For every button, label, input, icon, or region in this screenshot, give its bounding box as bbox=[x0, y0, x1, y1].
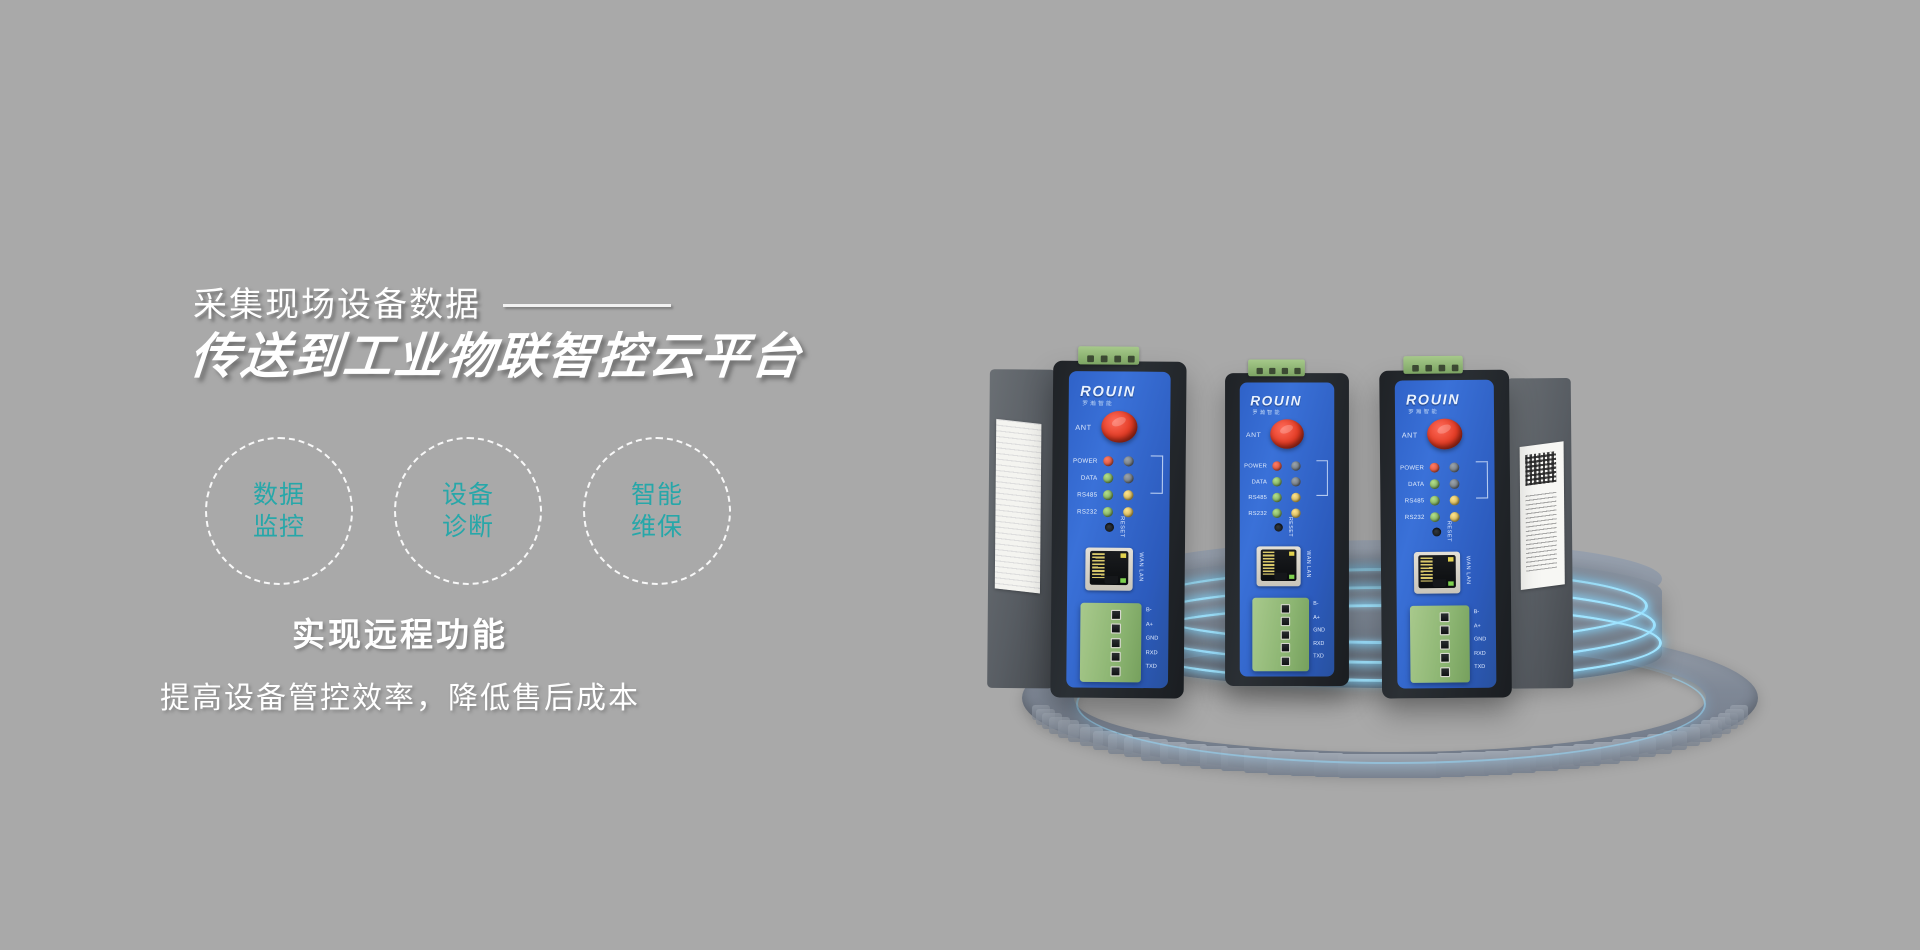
subheading-secondary: 提高设备管控效率，降低售后成本 bbox=[0, 673, 800, 717]
terminal-label-group: B- A+ GND RXD TXD bbox=[1313, 601, 1325, 660]
spec-label-sticker bbox=[995, 419, 1042, 594]
led-status-icon bbox=[1291, 477, 1300, 486]
brand-logo: ROUIN bbox=[1406, 391, 1460, 408]
terminal-label-group: B- A+ GND RXD TXD bbox=[1474, 609, 1487, 671]
led-status-icon bbox=[1449, 462, 1459, 472]
antenna-connector-icon bbox=[1270, 419, 1304, 448]
gear-tooth bbox=[1730, 705, 1748, 720]
led-rs232-icon bbox=[1430, 512, 1440, 522]
rj45-port-icon bbox=[1085, 547, 1133, 590]
brand-logo: ROUIN bbox=[1250, 393, 1302, 409]
led-status-icon bbox=[1123, 473, 1133, 483]
feature-circle-line1: 设备 bbox=[442, 479, 494, 511]
brand-logo: ROUIN bbox=[1080, 382, 1136, 399]
sticker-text-lines bbox=[1526, 491, 1557, 572]
led-rs232-icon bbox=[1272, 509, 1281, 518]
terminal-label: TXD bbox=[1313, 653, 1325, 659]
power-terminal-top bbox=[1403, 356, 1463, 374]
screw-terminal-block bbox=[1252, 598, 1309, 672]
lan-port-label: WAN LAN bbox=[1137, 552, 1144, 582]
feature-circle-line1: 智能 bbox=[631, 479, 683, 511]
status-bracket bbox=[1316, 460, 1328, 496]
led-status-icon bbox=[1449, 479, 1459, 489]
device-left-side-panel bbox=[987, 369, 1055, 688]
page-title: 传送到工业物联智控云平台 bbox=[188, 332, 805, 383]
terminal-label: B- bbox=[1313, 601, 1325, 607]
reset-button[interactable] bbox=[1274, 523, 1282, 531]
antenna-connector-icon bbox=[1101, 411, 1137, 443]
reset-button[interactable] bbox=[1432, 528, 1441, 537]
terminal-label: TXD bbox=[1474, 664, 1486, 671]
terminal-label: GND bbox=[1313, 627, 1325, 633]
led-rs485-icon bbox=[1430, 496, 1440, 506]
status-bracket bbox=[1476, 461, 1488, 499]
led-power-icon bbox=[1430, 463, 1440, 473]
feature-circle-line2: 诊断 bbox=[442, 511, 494, 543]
led-status-icon bbox=[1123, 490, 1133, 500]
brand-logo-cn: 罗瀚智能 bbox=[1408, 408, 1439, 416]
kicker-rule-divider bbox=[503, 304, 671, 307]
led-label: RS485 bbox=[1244, 494, 1267, 500]
led-label: DATA bbox=[1244, 479, 1267, 485]
lan-port-label: WAN LAN bbox=[1305, 551, 1311, 578]
antenna-label: ANT bbox=[1075, 424, 1091, 432]
feature-circle-device-diagnosis[interactable]: 设备 诊断 bbox=[394, 437, 542, 585]
promo-banner: 采集现场设备数据 传送到工业物联智控云平台 数据 监控 设备 诊断 智能 维保 … bbox=[0, 0, 1920, 950]
led-power-icon bbox=[1272, 461, 1281, 470]
led-label: POWER bbox=[1400, 464, 1424, 471]
led-status-icon bbox=[1291, 493, 1300, 502]
antenna-connector-icon bbox=[1427, 418, 1462, 449]
feature-circle-smart-maintenance[interactable]: 智能 维保 bbox=[583, 437, 731, 585]
feature-circle-line1: 数据 bbox=[253, 479, 305, 511]
device-gateway-center: ROUIN 罗瀚智能 ANT POWER DATA bbox=[1225, 373, 1349, 686]
feature-circle-list: 数据 监控 设备 诊断 智能 维保 bbox=[205, 437, 731, 585]
device-front-panel: ROUIN 罗瀚智能 ANT POWER DATA bbox=[1395, 380, 1497, 689]
reset-label: RESET bbox=[1287, 517, 1293, 537]
kicker-row: 采集现场设备数据 bbox=[193, 288, 671, 322]
led-label: DATA bbox=[1073, 474, 1098, 481]
device-front-panel: ROUIN 罗瀚智能 ANT POWER DATA bbox=[1066, 371, 1170, 688]
terminal-label: A+ bbox=[1313, 614, 1325, 620]
terminal-label: GND bbox=[1146, 635, 1159, 642]
device-gateway-left: ROUIN 罗瀚智能 ANT POWER DATA bbox=[1050, 361, 1186, 699]
antenna-label: ANT bbox=[1402, 432, 1418, 440]
terminal-label: B- bbox=[1474, 609, 1486, 616]
led-status-icon bbox=[1291, 461, 1300, 470]
device-gateway-right: ROUIN 罗瀚智能 ANT POWER DATA bbox=[1379, 370, 1512, 699]
subheading-primary: 实现远程功能 bbox=[0, 608, 800, 656]
led-label: POWER bbox=[1244, 463, 1267, 469]
led-data-icon bbox=[1430, 479, 1440, 489]
led-label: POWER bbox=[1073, 457, 1098, 464]
terminal-label: RXD bbox=[1146, 649, 1159, 656]
terminal-label: B- bbox=[1146, 607, 1159, 614]
status-bracket bbox=[1150, 455, 1163, 494]
product-scene: ROUIN 罗瀚智能 ANT POWER DATA bbox=[980, 230, 1800, 790]
lan-port-label: WAN LAN bbox=[1464, 556, 1471, 585]
device-chassis: ROUIN 罗瀚智能 ANT POWER DATA bbox=[1050, 361, 1186, 699]
terminal-label: TXD bbox=[1145, 663, 1158, 670]
power-terminal-top bbox=[1078, 346, 1139, 365]
antenna-label: ANT bbox=[1246, 432, 1261, 439]
terminal-label: RXD bbox=[1474, 650, 1486, 657]
screw-terminal-block bbox=[1080, 603, 1142, 683]
kicker-text: 采集现场设备数据 bbox=[193, 288, 481, 322]
led-data-icon bbox=[1103, 473, 1113, 483]
feature-circle-data-monitoring[interactable]: 数据 监控 bbox=[205, 437, 353, 585]
copy-block: 采集现场设备数据 传送到工业物联智控云平台 数据 监控 设备 诊断 智能 维保 … bbox=[0, 0, 900, 950]
led-rs485-icon bbox=[1103, 490, 1113, 500]
device-chassis: ROUIN 罗瀚智能 ANT POWER DATA bbox=[1379, 370, 1512, 699]
reset-label: RESET bbox=[1118, 516, 1125, 538]
device-right-side-panel bbox=[1507, 378, 1574, 689]
reset-button[interactable] bbox=[1105, 523, 1114, 532]
rj45-port-icon bbox=[1414, 552, 1461, 594]
device-chassis: ROUIN 罗瀚智能 ANT POWER DATA bbox=[1225, 373, 1349, 686]
led-label: RS485 bbox=[1072, 491, 1097, 498]
feature-circle-line2: 维保 bbox=[631, 511, 683, 543]
qr-code-sticker bbox=[1520, 441, 1565, 590]
feature-circle-line2: 监控 bbox=[253, 511, 305, 543]
qr-code-icon bbox=[1525, 451, 1556, 486]
led-status-icon bbox=[1124, 456, 1134, 466]
led-power-icon bbox=[1103, 456, 1113, 466]
led-label: RS485 bbox=[1400, 497, 1424, 504]
led-label: RS232 bbox=[1072, 508, 1097, 515]
device-front-panel: ROUIN 罗瀚智能 ANT POWER DATA bbox=[1240, 383, 1335, 677]
terminal-label-group: B- A+ GND RXD TXD bbox=[1145, 607, 1158, 670]
led-rs232-icon bbox=[1103, 507, 1113, 517]
screw-terminal-block bbox=[1410, 605, 1470, 683]
led-data-icon bbox=[1272, 477, 1281, 486]
led-label: RS232 bbox=[1400, 514, 1424, 521]
terminal-label: RXD bbox=[1313, 640, 1325, 646]
led-label: DATA bbox=[1400, 481, 1424, 488]
terminal-label: A+ bbox=[1146, 621, 1159, 628]
reset-label: RESET bbox=[1445, 521, 1452, 542]
rj45-port-icon bbox=[1257, 546, 1301, 586]
brand-logo-cn: 罗瀚智能 bbox=[1252, 409, 1281, 416]
brand-logo-cn: 罗瀚智能 bbox=[1082, 399, 1114, 407]
led-status-icon bbox=[1450, 495, 1460, 505]
terminal-label: A+ bbox=[1474, 622, 1486, 629]
led-label: RS232 bbox=[1244, 510, 1267, 516]
terminal-label: GND bbox=[1474, 636, 1486, 643]
led-rs485-icon bbox=[1272, 493, 1281, 502]
power-terminal-top bbox=[1248, 359, 1305, 376]
